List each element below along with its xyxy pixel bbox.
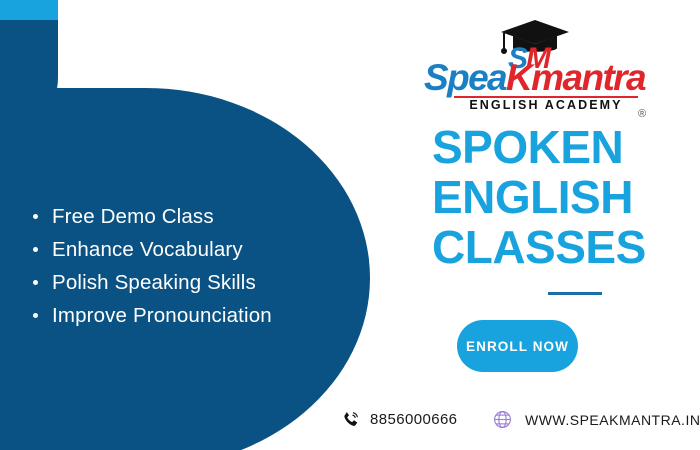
phone-number: 8856000666 [370,411,457,428]
website-url: WWW.SPEAKMANTRA.IN [525,412,700,428]
headline-line-3: CLASSES [432,222,684,272]
promo-banner: Free Demo Class Enhance Vocabulary Polis… [0,0,700,450]
list-item: Improve Pronounciation [26,299,356,332]
wordmark-k: K [506,57,531,98]
feature-label: Polish Speaking Skills [52,271,256,294]
contact-phone[interactable]: 8856000666 [341,409,457,430]
globe-icon [492,409,513,430]
contact-website[interactable]: WWW.SPEAKMANTRA.IN [492,409,700,430]
headline-line-2: ENGLISH [432,172,684,222]
wordmark-speak: Spea [424,57,506,98]
headline-underline [548,292,602,295]
feature-label: Enhance Vocabulary [52,238,243,261]
list-item: Polish Speaking Skills [26,266,356,299]
brand-logo: SM SpeaKmantra® ENGLISH ACADEMY [424,18,660,110]
logo-wordmark: SpeaKmantra® [424,58,660,98]
feature-label: Free Demo Class [52,205,214,228]
wordmark-mantra: mantra [531,57,645,98]
feature-label: Improve Pronounciation [52,304,272,327]
enroll-now-button[interactable]: ENROLL NOW [457,320,578,372]
logo-tagline: ENGLISH ACADEMY [454,98,638,112]
list-item: Enhance Vocabulary [26,233,356,266]
feature-list: Free Demo Class Enhance Vocabulary Polis… [26,200,356,332]
headline-line-1: SPOKEN [432,122,684,172]
page-title: SPOKEN ENGLISH CLASSES [432,122,684,272]
phone-ringing-icon [341,409,362,430]
list-item: Free Demo Class [26,200,356,233]
